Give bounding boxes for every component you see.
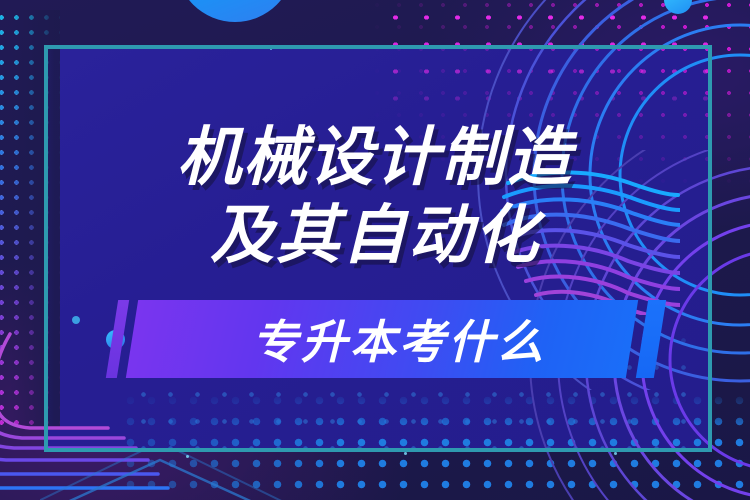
glint-dot (186, 455, 189, 458)
chevron-outline-icon (40, 452, 300, 500)
glint-dot (614, 452, 617, 455)
glint-dot (404, 452, 407, 455)
subtitle-text: 专升本考什么 (110, 300, 670, 378)
subtitle-banner: 专升本考什么 (110, 300, 670, 378)
poster-banner: 机械设计制造 及其自动化 专升本考什么 (0, 0, 750, 500)
teal-border-frame (44, 45, 712, 452)
